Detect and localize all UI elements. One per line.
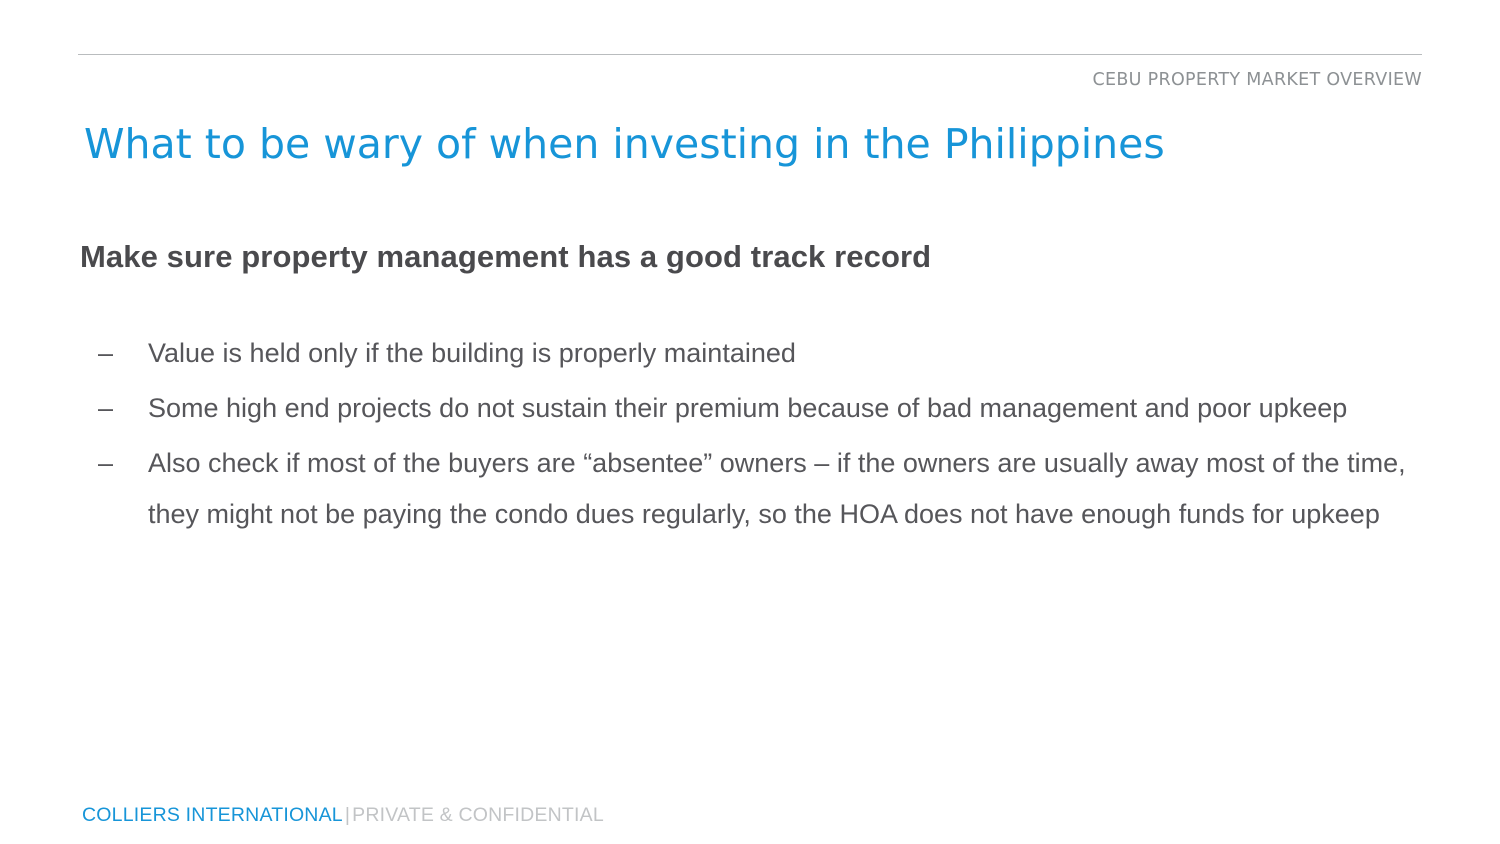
header-divider <box>78 54 1422 55</box>
list-item: – Value is held only if the building is … <box>98 328 1408 379</box>
slide-footer: COLLIERS INTERNATIONAL|PRIVATE & CONFIDE… <box>82 804 604 827</box>
list-item-label: Value is held only if the building is pr… <box>148 328 1408 379</box>
list-item-label: Some high end projects do not sustain th… <box>148 383 1408 434</box>
page-title: What to be wary of when investing in the… <box>84 121 1165 168</box>
footer-separator: | <box>343 804 352 826</box>
dash-bullet-icon: – <box>98 328 126 379</box>
slide: CEBU PROPERTY MARKET OVERVIEW What to be… <box>0 0 1500 844</box>
dash-bullet-icon: – <box>98 438 126 489</box>
company-name: COLLIERS INTERNATIONAL <box>82 804 343 826</box>
bullet-list: – Value is held only if the building is … <box>98 328 1408 544</box>
list-item: – Some high end projects do not sustain … <box>98 383 1408 434</box>
section-heading: Make sure property management has a good… <box>80 239 931 275</box>
list-item-label: Also check if most of the buyers are “ab… <box>148 438 1408 540</box>
deck-section-label: CEBU PROPERTY MARKET OVERVIEW <box>1093 70 1423 90</box>
confidentiality-note: PRIVATE & CONFIDENTIAL <box>352 804 604 826</box>
list-item: – Also check if most of the buyers are “… <box>98 438 1408 540</box>
dash-bullet-icon: – <box>98 383 126 434</box>
